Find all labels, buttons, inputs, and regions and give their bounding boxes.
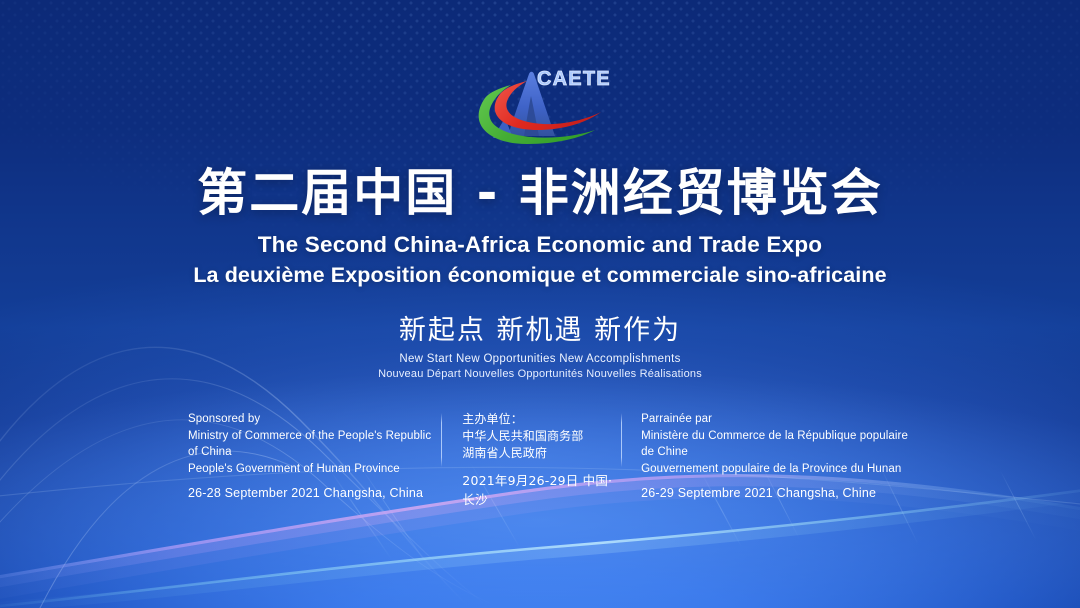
sponsor-section: Sponsored by Ministry of Commerce of the… — [188, 411, 918, 508]
sponsor-divider-left — [441, 413, 442, 467]
sponsor-date-chinese: 2021年9月26-29日 中国·长沙 — [462, 470, 621, 508]
title-english: The Second China-Africa Economic and Tra… — [0, 232, 1080, 258]
slogan-french: Nouveau Départ Nouvelles Opportunités No… — [0, 368, 1080, 380]
sponsor-date-french: 26-29 Septembre 2021 Changsha, Chine — [641, 486, 918, 500]
sponsor-heading-chinese: 主办单位： — [462, 411, 621, 428]
sponsor-org1-chinese: 中华人民共和国商务部 — [462, 428, 621, 445]
sponsor-org2-chinese: 湖南省人民政府 — [462, 445, 621, 462]
sponsor-org1-english: Ministry of Commerce of the People's Rep… — [188, 428, 441, 461]
title-block: 第二届中国 - 非洲经贸博览会 The Second China-Africa … — [0, 166, 1080, 288]
sponsor-divider-right — [621, 413, 622, 467]
caete-emblem-icon: CAETE — [445, 38, 635, 150]
caete-wordmark: CAETE — [537, 68, 611, 90]
slogan-chinese: 新起点 新机遇 新作为 — [0, 308, 1080, 347]
sponsor-column-french: Parrainée par Ministère du Commerce de l… — [621, 411, 918, 500]
sponsor-column-english: Sponsored by Ministry of Commerce of the… — [188, 411, 441, 500]
sponsor-heading-english: Sponsored by — [188, 411, 441, 428]
sponsor-org1-french: Ministère du Commerce de la République p… — [641, 428, 918, 461]
title-chinese: 第二届中国 - 非洲经贸博览会 — [0, 166, 1080, 221]
title-french: La deuxième Exposition économique et com… — [0, 263, 1080, 288]
sponsor-heading-french: Parrainée par — [641, 411, 918, 428]
poster-canvas: CAETE 第二届中国 - 非洲经贸博览会 The Second China-A… — [0, 0, 1080, 608]
caete-logo: CAETE — [445, 38, 635, 150]
sponsor-org2-english: People's Government of Hunan Province — [188, 461, 441, 478]
sponsor-column-chinese: 主办单位： 中华人民共和国商务部 湖南省人民政府 2021年9月26-29日 中… — [441, 411, 621, 508]
slogan-block: 新起点 新机遇 新作为 New Start New Opportunities … — [0, 308, 1080, 380]
sponsor-org2-french: Gouvernement populaire de la Province du… — [641, 461, 918, 478]
sponsor-date-english: 26-28 September 2021 Changsha, China — [188, 486, 441, 500]
slogan-english: New Start New Opportunities New Accompli… — [0, 353, 1080, 365]
